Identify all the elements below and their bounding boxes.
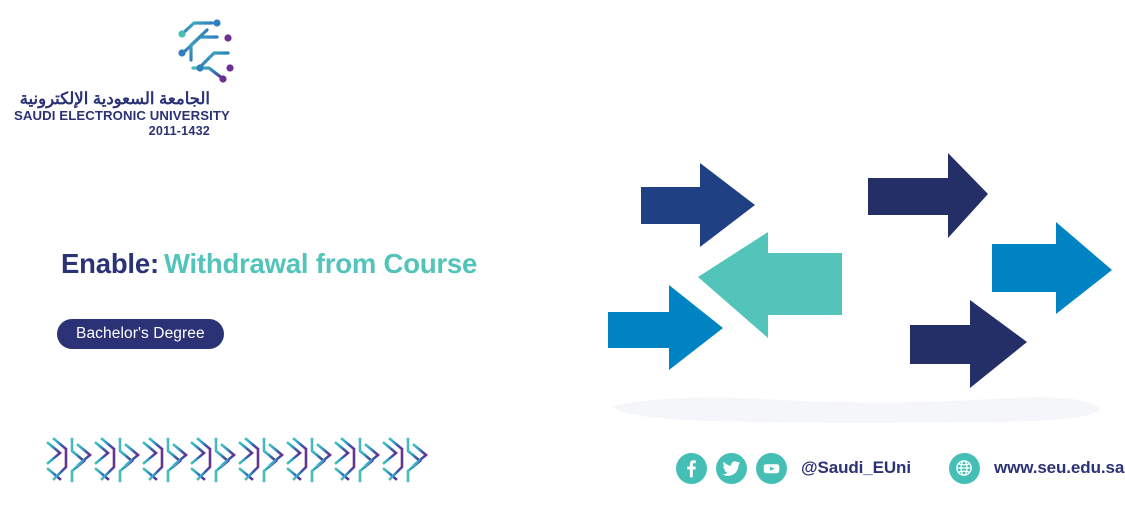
degree-badge-label: Bachelor's Degree: [76, 325, 205, 343]
social-handle: @Saudi_EUni: [801, 458, 911, 478]
twitter-icon: [722, 459, 741, 478]
logo-years: 2011-1432: [14, 124, 210, 138]
youtube-icon: [762, 459, 781, 478]
seu-hex-circuit-logo-icon: [162, 12, 246, 88]
website-url: www.seu.edu.sa: [994, 458, 1124, 478]
headline-lead: Enable:: [61, 248, 159, 279]
degree-badge: Bachelor's Degree: [57, 319, 224, 349]
arrow-bottom-left: [608, 285, 723, 370]
footer-bar: @Saudi_EUni www.seu.edu.sa: [676, 449, 1124, 487]
headline-topic: Withdrawal from Course: [164, 248, 477, 279]
page-title: Enable:Withdrawal from Course: [61, 248, 477, 280]
website-group[interactable]: www.seu.edu.sa: [949, 453, 1124, 484]
illustration-shadow: [612, 397, 1100, 423]
arrow-top-right: [868, 153, 988, 238]
youtube-link[interactable]: [756, 453, 787, 484]
arrow-mid-right: [992, 222, 1112, 314]
arrow-top-left: [641, 163, 755, 247]
circuit-strip-pattern-icon: [46, 437, 442, 485]
arrow-center-teal: [698, 232, 842, 338]
website-link[interactable]: [949, 453, 980, 484]
social-links: [676, 453, 787, 484]
facebook-link[interactable]: [676, 453, 707, 484]
facebook-icon: [682, 459, 701, 478]
globe-icon: [954, 458, 974, 478]
university-logo: الجامعة السعودية الإلكترونية SAUDI ELECT…: [14, 8, 244, 140]
logo-english-name: SAUDI ELECTRONIC UNIVERSITY: [14, 108, 210, 123]
arrow-bottom-right: [910, 300, 1027, 388]
poster-canvas: الجامعة السعودية الإلكترونية SAUDI ELECT…: [0, 0, 1125, 507]
arrows-illustration: [590, 148, 1120, 424]
twitter-link[interactable]: [716, 453, 747, 484]
logo-arabic-name: الجامعة السعودية الإلكترونية: [14, 90, 210, 108]
